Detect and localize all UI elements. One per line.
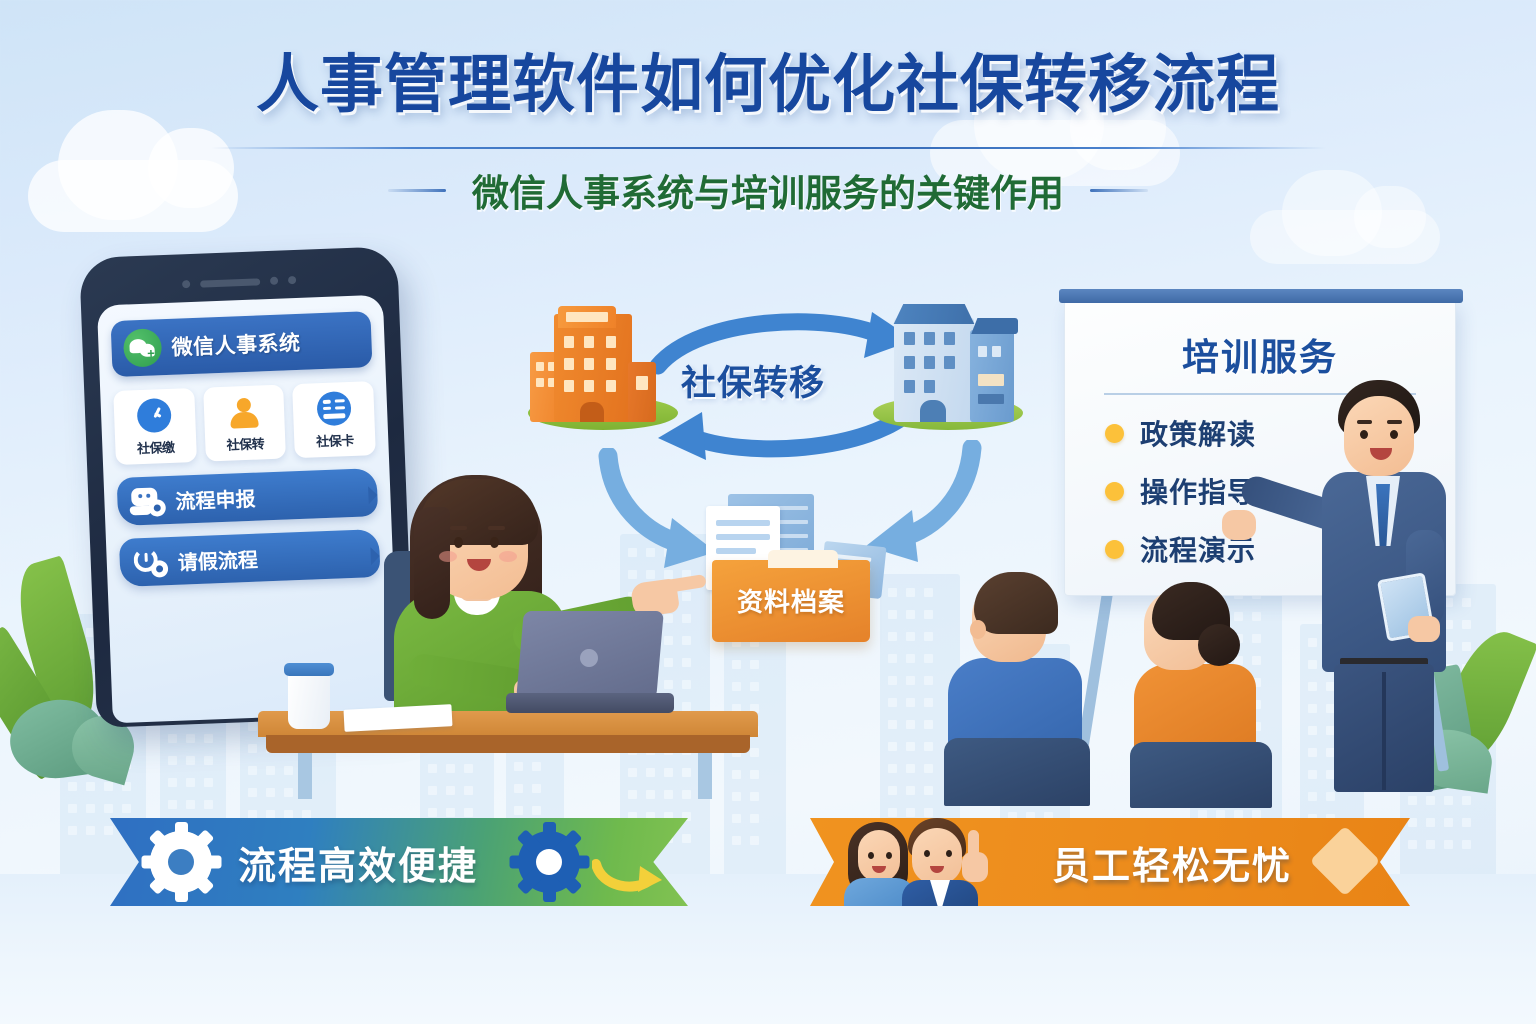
audience-member-female: [1124, 582, 1276, 806]
feature-tile-grid: 社保缴 社保转 社保卡: [113, 381, 376, 465]
camera-icon: [182, 280, 190, 288]
coffee-cup-lid: [284, 663, 334, 676]
banner-label: 员工轻松无忧: [1052, 835, 1292, 890]
presenter-eye: [1390, 430, 1398, 439]
tile-social-insurance-payment[interactable]: 社保缴: [113, 388, 196, 465]
avatar-blush: [499, 551, 517, 562]
desk-leg: [298, 753, 312, 799]
clock-icon: [137, 398, 172, 433]
banner-label: 流程高效便捷: [238, 835, 478, 890]
header: 人事管理软件如何优化社保转移流程 微信人事系统与培训服务的关键作用: [0, 34, 1536, 217]
bullet-dot-icon: [1105, 482, 1124, 501]
banner-worry-free-employees[interactable]: 员工轻松无忧: [810, 818, 1410, 906]
card-icon: [316, 391, 351, 426]
audience-member-male: [944, 574, 1094, 804]
audience-chair: [944, 738, 1090, 806]
presenter-head: [1344, 396, 1414, 476]
bullet-dot-icon: [1105, 540, 1124, 559]
pill-label: 流程申报: [175, 482, 256, 514]
app-header-bar[interactable]: + 微信人事系统: [111, 311, 373, 377]
clock-gear-icon: [131, 546, 168, 577]
gear-icon: [150, 831, 212, 893]
tile-social-insurance-card[interactable]: 社保卡: [292, 381, 375, 458]
desk-leg: [698, 753, 712, 799]
presenter-eyebrow: [1387, 420, 1402, 424]
avatar-eyebrow: [450, 526, 467, 530]
cycle-arrow-icon: [592, 854, 662, 894]
tile-label: 社保缴: [117, 436, 194, 458]
destination-building-icon: [874, 300, 1022, 422]
avatar-blush: [439, 551, 457, 562]
wechat-icon: +: [123, 328, 162, 367]
page-title: 人事管理软件如何优化社保转移流程: [0, 34, 1536, 125]
tile-social-insurance-transfer[interactable]: 社保转: [203, 385, 286, 462]
subtitle-row: 微信人事系统与培训服务的关键作用: [0, 163, 1536, 217]
transfer-label: 社保转移: [681, 355, 825, 406]
coffee-cup-icon: [288, 671, 330, 729]
subtitle-dash-right-icon: [1090, 189, 1148, 192]
robot-gear-icon: [129, 485, 166, 516]
trainer-presenter: [1288, 380, 1478, 800]
hr-officer-scene: [258, 455, 778, 785]
avatar-eye: [490, 537, 499, 548]
laptop-keyboard: [506, 693, 674, 713]
subtitle-dash-left-icon: [388, 189, 446, 192]
bullet-label: 政策解读: [1140, 413, 1256, 453]
sensor-icon: [270, 277, 278, 285]
presenter-eye: [1360, 430, 1368, 439]
sensor-icon: [288, 276, 296, 284]
bullet-dot-icon: [1105, 424, 1124, 443]
presenter-eyebrow: [1357, 420, 1372, 424]
page-subtitle: 微信人事系统与培训服务的关键作用: [472, 163, 1064, 217]
audience-chair: [1130, 742, 1272, 808]
banner-efficient-process[interactable]: 流程高效便捷: [110, 818, 688, 906]
title-divider-rule: [211, 147, 1326, 149]
pointing-finger-icon: [665, 574, 707, 593]
speaker-icon: [200, 278, 260, 287]
employee-avatar-male: [900, 818, 980, 906]
phone-notch: [96, 269, 382, 296]
gear-blue-icon: [518, 831, 580, 893]
avatar-hair-side: [414, 507, 450, 619]
app-title: 微信人事系统: [171, 327, 301, 362]
whiteboard-title: 培训服务: [1065, 327, 1455, 381]
person-icon: [226, 394, 261, 429]
presenter-hand-holding: [1408, 616, 1440, 642]
employee-couple-avatars: [844, 818, 994, 906]
avatar-eyebrow: [488, 526, 505, 530]
pill-label: 请假流程: [177, 543, 258, 575]
avatar-eye: [454, 537, 463, 548]
tile-label: 社保卡: [296, 429, 373, 451]
presenter-hand-pointer: [1222, 510, 1256, 540]
tile-label: 社保转: [207, 433, 284, 455]
desk-edge: [266, 735, 750, 753]
desk-surface: [258, 711, 758, 737]
laptop-logo-icon: [580, 649, 598, 667]
whiteboard-frame-top: [1059, 289, 1463, 303]
ribbon-diamond-icon: [1310, 826, 1381, 897]
presenter-trouser-seam: [1382, 672, 1386, 790]
cloud-decoration: [1250, 210, 1440, 264]
origin-building-icon: [528, 306, 678, 422]
bullet-label: 操作指导: [1140, 471, 1256, 511]
